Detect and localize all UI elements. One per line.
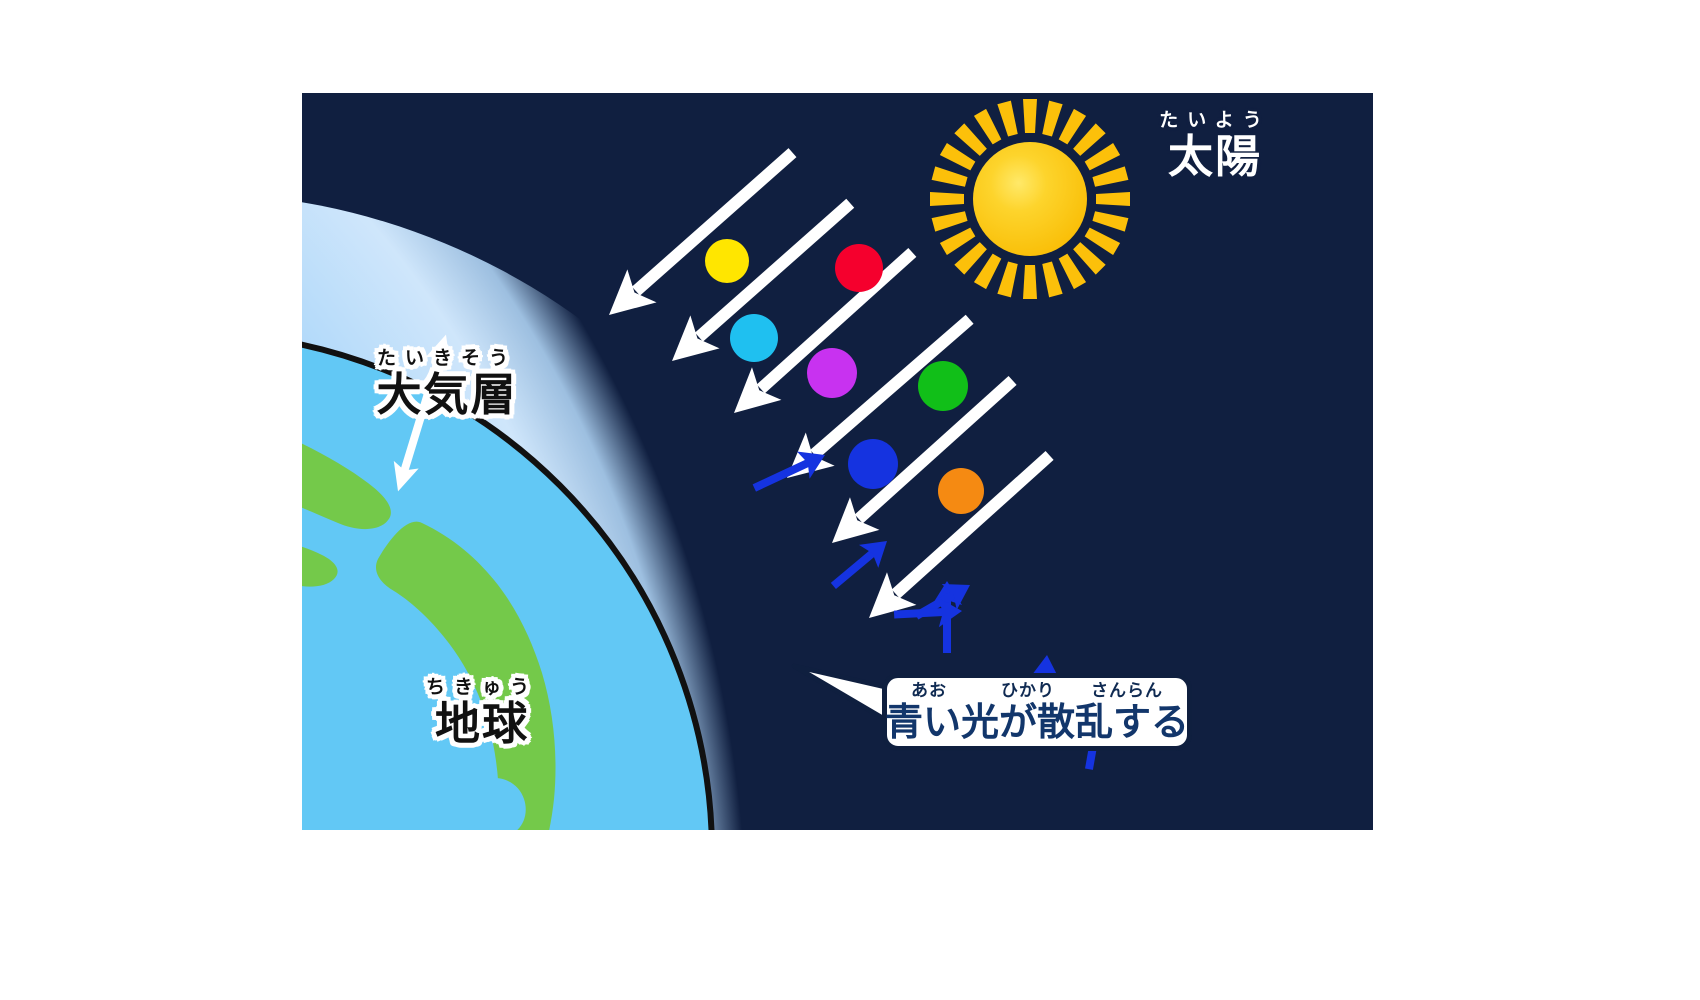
callout-bubble: あお ひかり さんらん 青い光が散乱する — [882, 673, 1192, 751]
night-sky-panel: たいよう 太陽 たいきそう 大気層 ちきゅう 地球 あお ひかり さんらん 青い… — [302, 93, 1373, 830]
callout-text: 青い光が散乱する — [885, 703, 1189, 741]
callout-tail — [302, 93, 1373, 830]
callout-text-group: あお ひかり さんらん 青い光が散乱する — [885, 683, 1189, 741]
callout-furigana: あお ひかり さんらん — [885, 683, 1189, 700]
diagram-canvas: たいよう 太陽 たいきそう 大気層 ちきゅう 地球 あお ひかり さんらん 青い… — [0, 0, 1700, 1000]
